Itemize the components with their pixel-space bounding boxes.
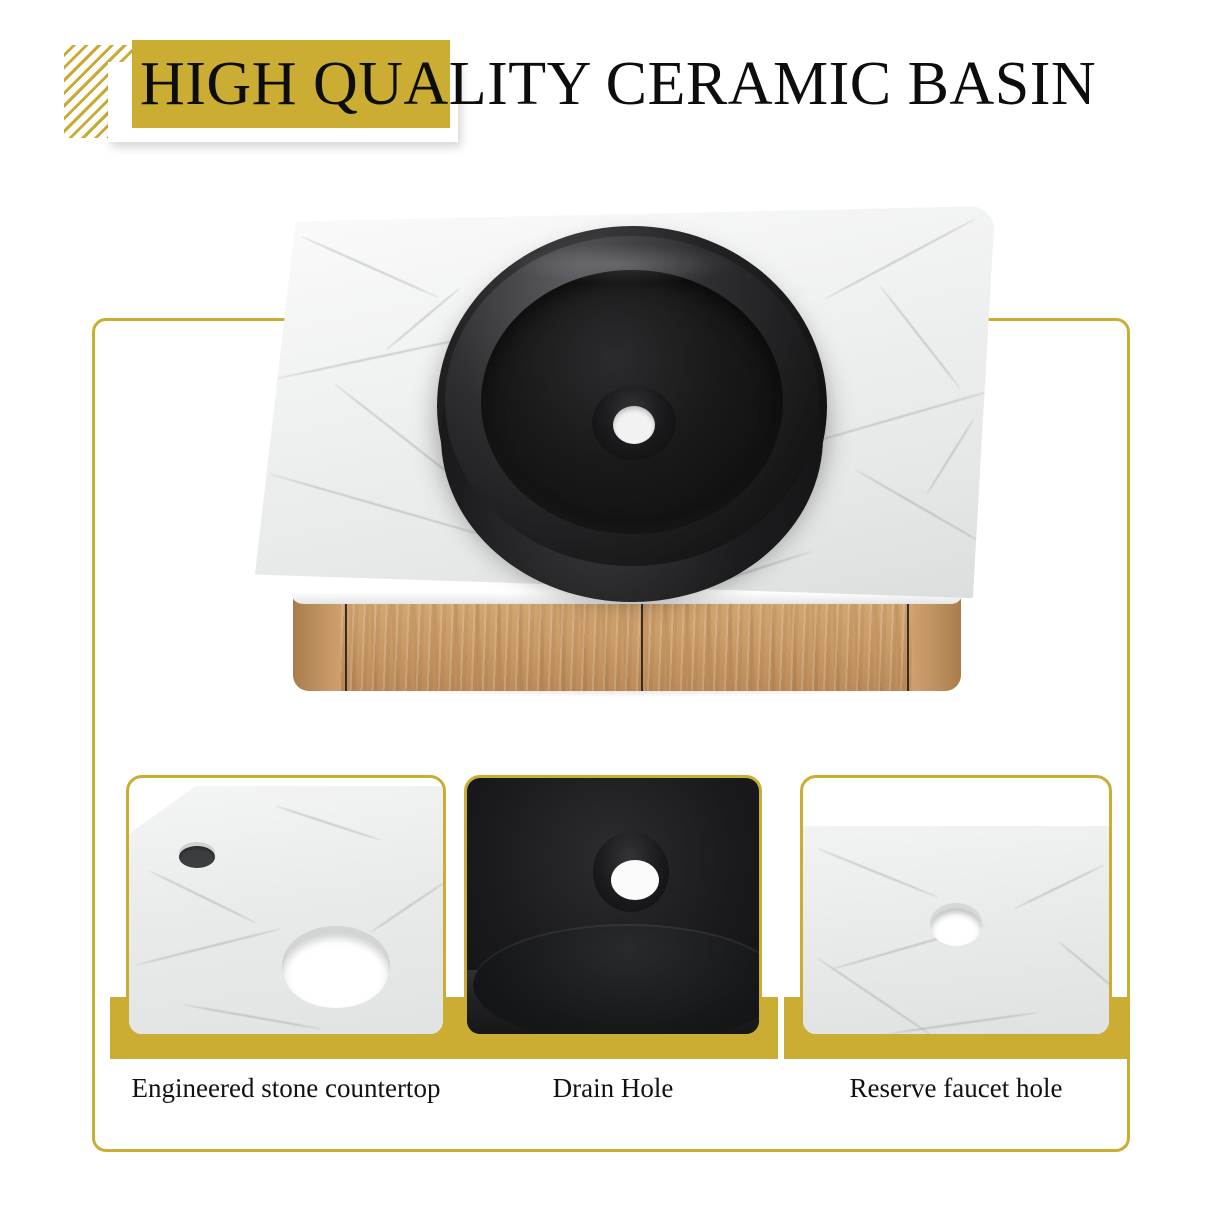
drain-hole xyxy=(611,860,659,900)
feature-image-frame xyxy=(126,775,446,1037)
basin-drain-hole xyxy=(613,406,655,444)
stone-slab-with-faucet-and-drain-cutout xyxy=(126,786,446,1037)
reserved-faucet-hole xyxy=(931,908,981,946)
feature-card-reserve-faucet-hole[interactable]: Reserve faucet hole xyxy=(784,775,1128,1155)
basin-bottom-arc xyxy=(473,924,762,1037)
black-vessel-basin xyxy=(437,226,827,616)
marble-vein xyxy=(135,928,281,966)
marble-vein xyxy=(149,870,258,924)
hero-product-image xyxy=(255,178,995,708)
marble-vein xyxy=(370,881,446,933)
feature-card-engineered-stone-countertop[interactable]: Engineered stone countertop xyxy=(110,775,462,1155)
cabinet-right-side xyxy=(913,593,961,691)
black-basin-drain-hole-closeup xyxy=(465,775,762,1037)
feature-image-frame xyxy=(464,775,762,1037)
marble-vein xyxy=(816,957,933,1037)
feature-caption: Reserve faucet hole xyxy=(784,1071,1128,1105)
feature-image-frame xyxy=(800,775,1112,1037)
feature-caption: Drain Hole xyxy=(448,1071,778,1105)
marble-vein xyxy=(1058,941,1112,994)
marble-vein xyxy=(184,1004,322,1030)
page-title: HIGH QUALITY CERAMIC BASIN xyxy=(140,40,1190,128)
marble-vein xyxy=(1014,864,1105,910)
faucet-hole xyxy=(179,846,215,868)
marble-vein xyxy=(275,805,380,841)
basin-rim-highlight xyxy=(507,244,737,284)
drawer-seam-left xyxy=(345,595,347,691)
cabinet-left-side xyxy=(293,593,341,691)
marble-vein xyxy=(817,848,938,899)
drain-cutout xyxy=(283,932,389,1008)
stone-surface-with-reserved-faucet-hole xyxy=(800,826,1112,1037)
stone-countertop xyxy=(255,206,995,606)
feature-caption: Engineered stone countertop xyxy=(110,1071,462,1105)
header-banner: HIGH QUALITY CERAMIC BASIN xyxy=(0,0,1214,175)
feature-card-drain-hole[interactable]: Drain Hole xyxy=(448,775,778,1155)
drawer-seam-right xyxy=(907,595,909,691)
